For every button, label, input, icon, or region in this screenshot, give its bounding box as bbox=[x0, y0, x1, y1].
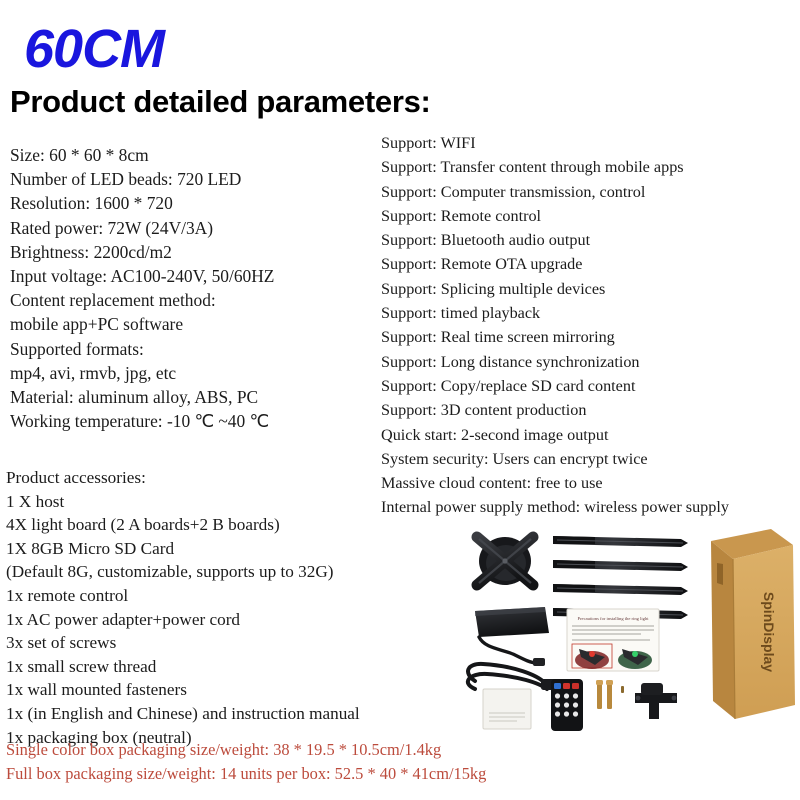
spec-line: Content replacement method: bbox=[10, 288, 390, 312]
accessory-item: 1X 8GB Micro SD Card bbox=[6, 537, 456, 561]
spec-line: Support: Transfer content through mobile… bbox=[381, 155, 796, 179]
leaflet-title: Precautions for installing the ring ligh… bbox=[577, 616, 649, 621]
spec-line: Rated power: 72W (24V/3A) bbox=[10, 216, 390, 240]
instruction-leaflet-icon: Precautions for installing the ring ligh… bbox=[567, 609, 659, 671]
product-spec-page: 60CM Product detailed parameters: Size: … bbox=[0, 0, 800, 800]
product-photo: Precautions for installing the ring ligh… bbox=[445, 523, 797, 735]
accessory-item: 3x set of screws bbox=[6, 631, 456, 655]
power-adapter-icon bbox=[475, 607, 549, 666]
spec-line: Quick start: 2-second image output bbox=[381, 423, 796, 447]
accessory-item: (Default 8G, customizable, supports up t… bbox=[6, 560, 456, 584]
specs-left-column: Size: 60 * 60 * 8cm Number of LED beads:… bbox=[10, 143, 390, 433]
accessory-item: 1x AC power adapter+power cord bbox=[6, 608, 456, 632]
motor-hub-icon bbox=[477, 537, 533, 585]
accessory-item: 1x (in English and Chinese) and instruct… bbox=[6, 702, 456, 726]
spec-line: Support: Bluetooth audio output bbox=[381, 228, 796, 252]
screws-icon bbox=[596, 680, 624, 709]
spec-line: Support: Real time screen mirroring bbox=[381, 325, 796, 349]
spec-line: Material: aluminum alloy, ABS, PC bbox=[10, 385, 390, 409]
spec-line: Support: timed playback bbox=[381, 301, 796, 325]
spec-line: Brightness: 2200cd/m2 bbox=[10, 240, 390, 264]
spec-line: Input voltage: AC100-240V, 50/60HZ bbox=[10, 264, 390, 288]
accessory-item: 4X light board (2 A boards+2 B boards) bbox=[6, 513, 456, 537]
spec-line: Support: Copy/replace SD card content bbox=[381, 374, 796, 398]
remote-control-icon bbox=[551, 679, 583, 731]
spec-line: Support: Computer transmission, control bbox=[381, 180, 796, 204]
spec-line: Number of LED beads: 720 LED bbox=[10, 167, 390, 191]
spec-line: mobile app+PC software bbox=[10, 312, 390, 336]
packaging-line: Full box packaging size/weight: 14 units… bbox=[6, 762, 796, 786]
accessories-heading: Product accessories: bbox=[6, 466, 456, 490]
spec-line: Support: Splicing multiple devices bbox=[381, 277, 796, 301]
box-brand-label: SpinDisplay bbox=[761, 592, 777, 672]
led-blade-icon bbox=[553, 560, 688, 571]
page-title: Product detailed parameters: bbox=[10, 85, 431, 119]
spec-line: Supported formats: bbox=[10, 337, 390, 361]
spec-line: Support: WIFI bbox=[381, 131, 796, 155]
packaging-section: Single color box packaging size/weight: … bbox=[6, 738, 796, 786]
spec-line: Support: Remote control bbox=[381, 204, 796, 228]
spec-line: Support: Remote OTA upgrade bbox=[381, 252, 796, 276]
spec-line: Resolution: 1600 * 720 bbox=[10, 191, 390, 215]
power-cord-icon bbox=[468, 664, 557, 690]
spec-line: Support: 3D content production bbox=[381, 398, 796, 422]
manual-booklet-icon bbox=[483, 689, 531, 729]
packaging-line: Single color box packaging size/weight: … bbox=[6, 738, 796, 762]
accessory-item: 1x wall mounted fasteners bbox=[6, 678, 456, 702]
spec-line: Working temperature: -10 ℃ ~40 ℃ bbox=[10, 409, 390, 433]
packaging-box-icon: SpinDisplay bbox=[711, 529, 795, 719]
spec-line: mp4, avi, rmvb, jpg, etc bbox=[10, 361, 390, 385]
led-blade-icon bbox=[553, 584, 688, 595]
size-badge: 60CM bbox=[24, 22, 164, 76]
wall-bracket-icon bbox=[635, 683, 677, 719]
led-blade-icon bbox=[553, 536, 688, 547]
accessory-item: 1 X host bbox=[6, 490, 456, 514]
accessory-item: 1x remote control bbox=[6, 584, 456, 608]
accessory-item: 1x small screw thread bbox=[6, 655, 456, 679]
spec-line: Size: 60 * 60 * 8cm bbox=[10, 143, 390, 167]
spec-line: Support: Long distance synchronization bbox=[381, 350, 796, 374]
accessories-section: Product accessories: 1 X host 4X light b… bbox=[6, 466, 456, 749]
specs-right-column: Support: WIFI Support: Transfer content … bbox=[381, 131, 796, 520]
